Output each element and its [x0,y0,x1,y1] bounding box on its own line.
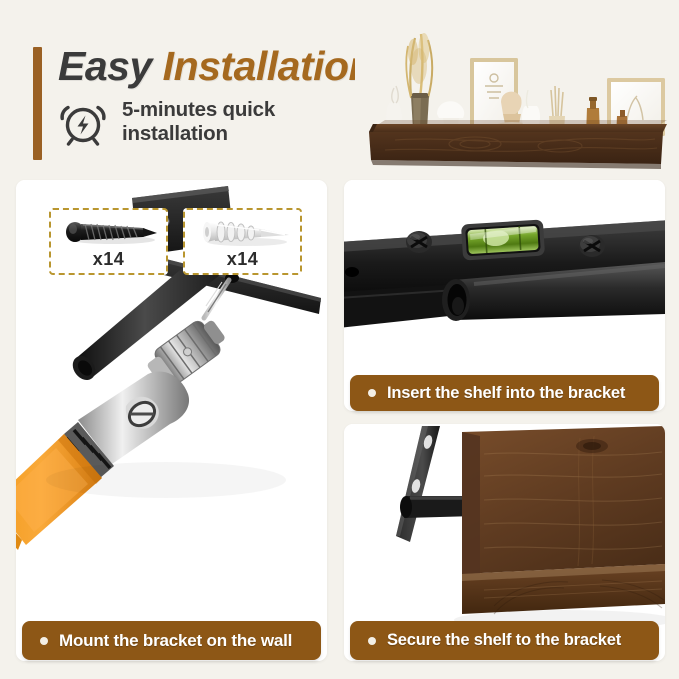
page-title: Easy Installation [58,43,373,90]
shelf-hero-image [355,20,673,180]
subtitle-row: 5-minutes quick installation [58,93,275,147]
caption-mount-bracket: Mount the bracket on the wall [22,621,321,660]
infographic-page: Easy Installation 5-minutes quick [0,0,679,679]
header: Easy Installation 5-minutes quick [0,0,679,178]
title-word-easy: Easy [58,43,152,89]
black-wood-screw-icon [51,212,166,252]
alarm-clock-lightning-icon [58,97,108,147]
screw-count-label: x14 [51,249,166,270]
caption-insert-shelf: Insert the shelf into the bracket [350,375,659,411]
subtitle-line-1: 5-minutes quick [122,98,275,122]
hardware-item-anchor: x14 [183,208,302,275]
title-word-installation: Installation [163,43,373,89]
bullet-dot-icon [368,637,376,645]
caption-text: Insert the shelf into the bracket [387,384,625,403]
anchor-count-label: x14 [185,249,300,270]
caption-text: Mount the bracket on the wall [59,631,292,651]
subtitle-text: 5-minutes quick installation [122,93,275,146]
subtitle-line-2: installation [122,122,275,146]
white-drywall-anchor-icon [185,212,300,252]
caption-secure-shelf: Secure the shelf to the bracket [350,621,659,660]
hardware-item-screw: x14 [49,208,168,275]
accent-bar [33,47,42,160]
bullet-dot-icon [368,389,376,397]
caption-text: Secure the shelf to the bracket [387,631,621,650]
bullet-dot-icon [40,637,48,645]
